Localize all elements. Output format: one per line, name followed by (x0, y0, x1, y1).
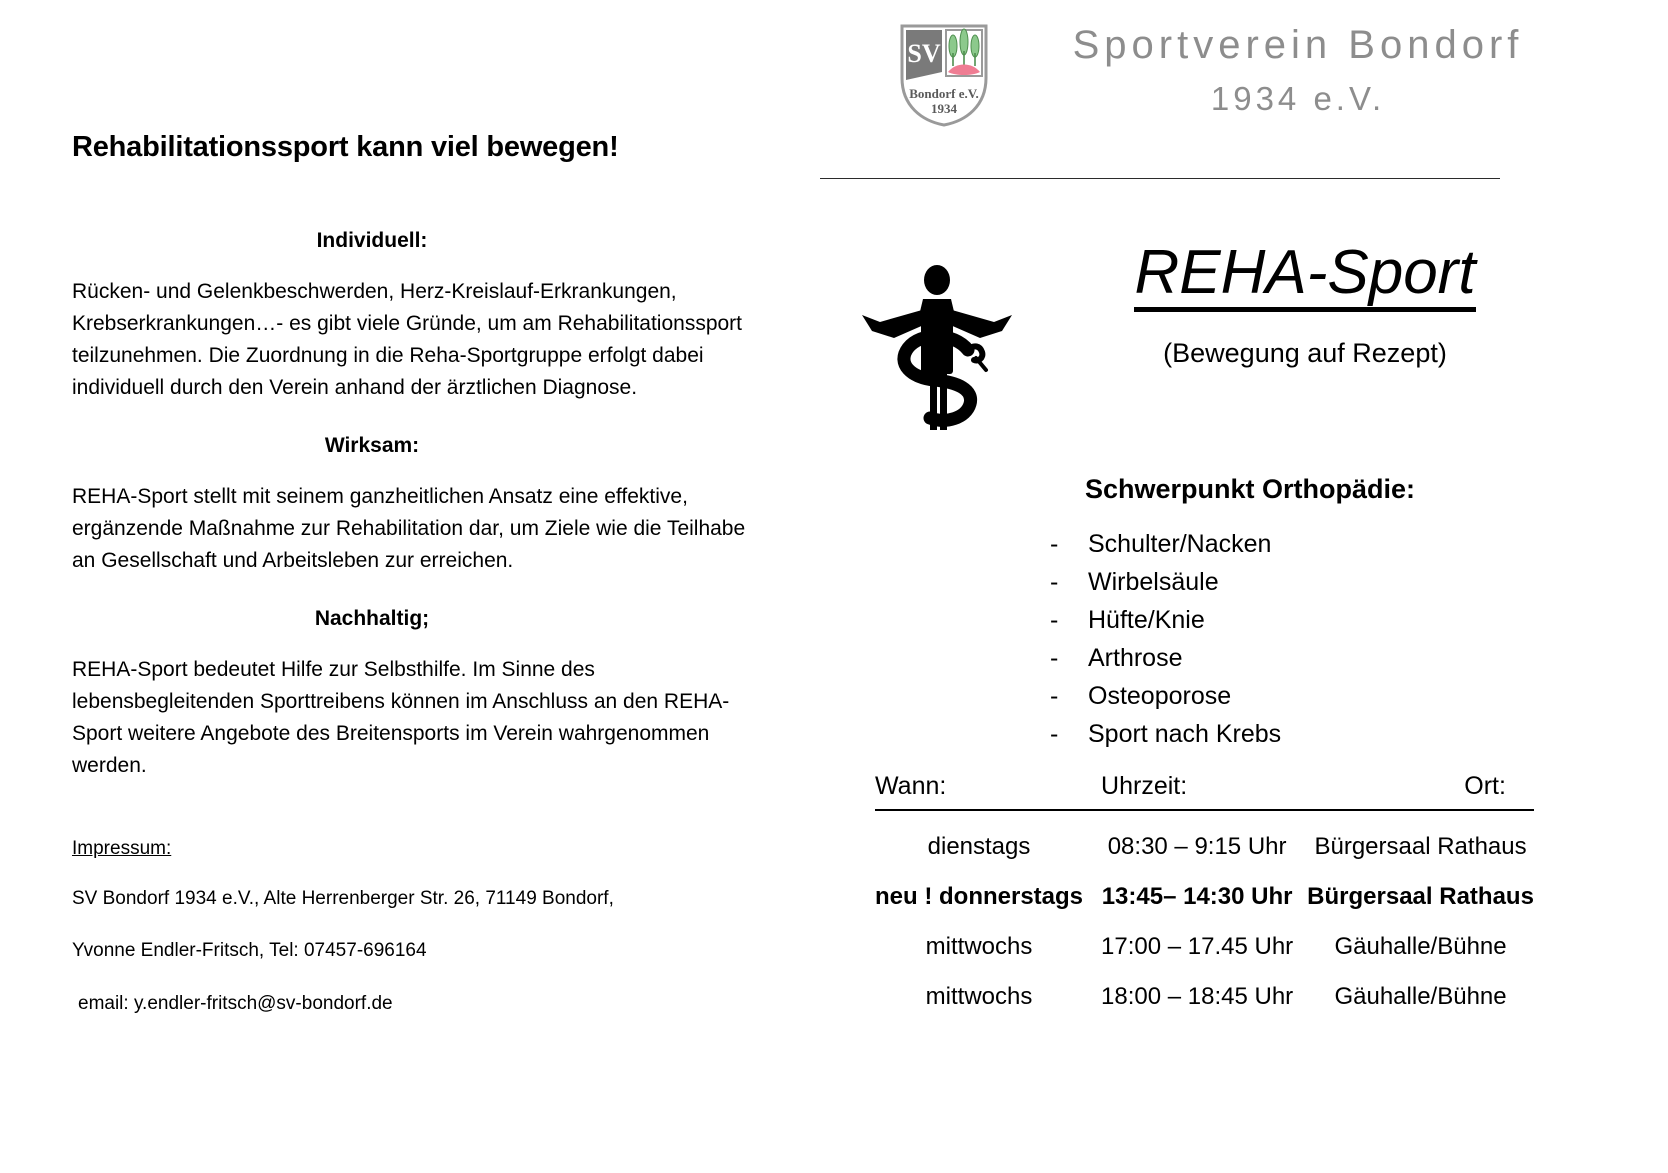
page-header: SV Bondorf e.V. 1934 Sportverein Bondorf… (880, 8, 1600, 138)
cell-place: Gäuhalle/Bühne (1307, 961, 1534, 1011)
brand-name: Sportverein Bondorf (1008, 22, 1588, 68)
cell-when: neu ! donnerstags (875, 861, 1101, 911)
caduceus-icon (850, 258, 1025, 433)
reha-hero: REHA-Sport (Bewegung auf Rezept) (840, 240, 1540, 420)
right-column: REHA-Sport (Bewegung auf Rezept) Schwerp… (840, 240, 1540, 753)
list-item: - Wirbelsäule (1050, 563, 1540, 601)
impressum-heading: Impressum: (72, 838, 762, 860)
brand-founded: 1934 e.V. (1008, 78, 1588, 121)
section-heading-wirksam: Wirksam: (72, 432, 762, 459)
asclepius-rod-figure-icon (850, 258, 1025, 433)
shield-crest-icon: SV Bondorf e.V. 1934 (888, 20, 1000, 130)
brand-wordmark: Sportverein Bondorf 1934 e.V. (1008, 22, 1588, 121)
column-header-place: Ort: (1307, 772, 1534, 810)
table-row-highlighted: neu ! donnerstags 13:45– 14:30 Uhr Bürge… (875, 861, 1534, 911)
list-item-label: Schulter/Nacken (1088, 530, 1271, 558)
focus-list: - Schulter/Nacken - Wirbelsäule - Hüfte/… (840, 525, 1540, 753)
bullet-dash-icon: - (1050, 601, 1058, 639)
section-text-wirksam: REHA-Sport stellt mit seinem ganzheitlic… (72, 481, 762, 577)
cell-when: dienstags (875, 810, 1101, 861)
section-heading-nachhaltig: Nachhaltig; (72, 605, 762, 632)
cell-time: 08:30 – 9:15 Uhr (1101, 810, 1307, 861)
list-item: - Arthrose (1050, 639, 1540, 677)
list-item-label: Sport nach Krebs (1088, 720, 1281, 748)
list-item-label: Arthrose (1088, 644, 1182, 672)
cell-time: 18:00 – 18:45 Uhr (1101, 961, 1307, 1011)
list-item-label: Osteoporose (1088, 682, 1231, 710)
section-heading-individuell: Individuell: (72, 227, 762, 254)
reha-title-block: REHA-Sport (Bewegung auf Rezept) (1085, 240, 1525, 371)
focus-heading: Schwerpunkt Orthopädie: (840, 472, 1540, 507)
cell-when: mittwochs (875, 911, 1101, 961)
reha-title: REHA-Sport (1134, 240, 1475, 312)
cell-time: 13:45– 14:30 Uhr (1101, 861, 1307, 911)
svg-text:SV: SV (907, 39, 940, 68)
bullet-dash-icon: - (1050, 525, 1058, 563)
cell-place: Bürgersaal Rathaus (1307, 861, 1534, 911)
section-text-nachhaltig: REHA-Sport bedeutet Hilfe zur Selbsthilf… (72, 654, 762, 782)
column-header-when: Wann: (875, 772, 1101, 810)
list-item: - Hüfte/Knie (1050, 601, 1540, 639)
schedule-section: Wann: Uhrzeit: Ort: dienstags 08:30 – 9:… (875, 772, 1515, 1011)
list-item: - Schulter/Nacken (1050, 525, 1540, 563)
impressum-block: Impressum: SV Bondorf 1934 e.V., Alte He… (72, 838, 762, 1018)
table-row: mittwochs 17:00 – 17.45 Uhr Gäuhalle/Büh… (875, 911, 1534, 961)
page-title: Rehabilitationssport kann viel bewegen! (72, 130, 762, 165)
cell-when: mittwochs (875, 961, 1101, 1011)
table-header-row: Wann: Uhrzeit: Ort: (875, 772, 1534, 810)
column-header-time: Uhrzeit: (1101, 772, 1307, 810)
sv-bondorf-logo: SV Bondorf e.V. 1934 (888, 20, 1000, 130)
schedule-table: Wann: Uhrzeit: Ort: dienstags 08:30 – 9:… (875, 772, 1534, 1011)
bullet-dash-icon: - (1050, 563, 1058, 601)
table-row: mittwochs 18:00 – 18:45 Uhr Gäuhalle/Büh… (875, 961, 1534, 1011)
left-column: Rehabilitationssport kann viel bewegen! … (72, 130, 762, 1043)
list-item: - Osteoporose (1050, 677, 1540, 715)
list-item: - Sport nach Krebs (1050, 715, 1540, 753)
svg-text:Bondorf e.V.: Bondorf e.V. (909, 86, 978, 101)
table-row: dienstags 08:30 – 9:15 Uhr Bürgersaal Ra… (875, 810, 1534, 861)
list-item-label: Wirbelsäule (1088, 568, 1219, 596)
bullet-dash-icon: - (1050, 677, 1058, 715)
impressum-email[interactable]: email: y.endler-fritsch@sv-bondorf.de (72, 991, 762, 1018)
impressum-address: SV Bondorf 1934 e.V., Alte Herrenberger … (72, 886, 762, 913)
impressum-contact: Yvonne Endler-Fritsch, Tel: 07457-696164 (72, 938, 762, 965)
reha-subtitle: (Bewegung auf Rezept) (1085, 336, 1525, 371)
bullet-dash-icon: - (1050, 715, 1058, 753)
section-text-individuell: Rücken- und Gelenkbeschwerden, Herz-Krei… (72, 276, 762, 404)
svg-text:1934: 1934 (931, 101, 958, 116)
cell-place: Gäuhalle/Bühne (1307, 911, 1534, 961)
bullet-dash-icon: - (1050, 639, 1058, 677)
cell-place: Bürgersaal Rathaus (1307, 810, 1534, 861)
cell-time: 17:00 – 17.45 Uhr (1101, 911, 1307, 961)
flyer-page: SV Bondorf e.V. 1934 Sportverein Bondorf… (0, 0, 1668, 1173)
list-item-label: Hüfte/Knie (1088, 606, 1205, 634)
header-divider (820, 178, 1500, 179)
